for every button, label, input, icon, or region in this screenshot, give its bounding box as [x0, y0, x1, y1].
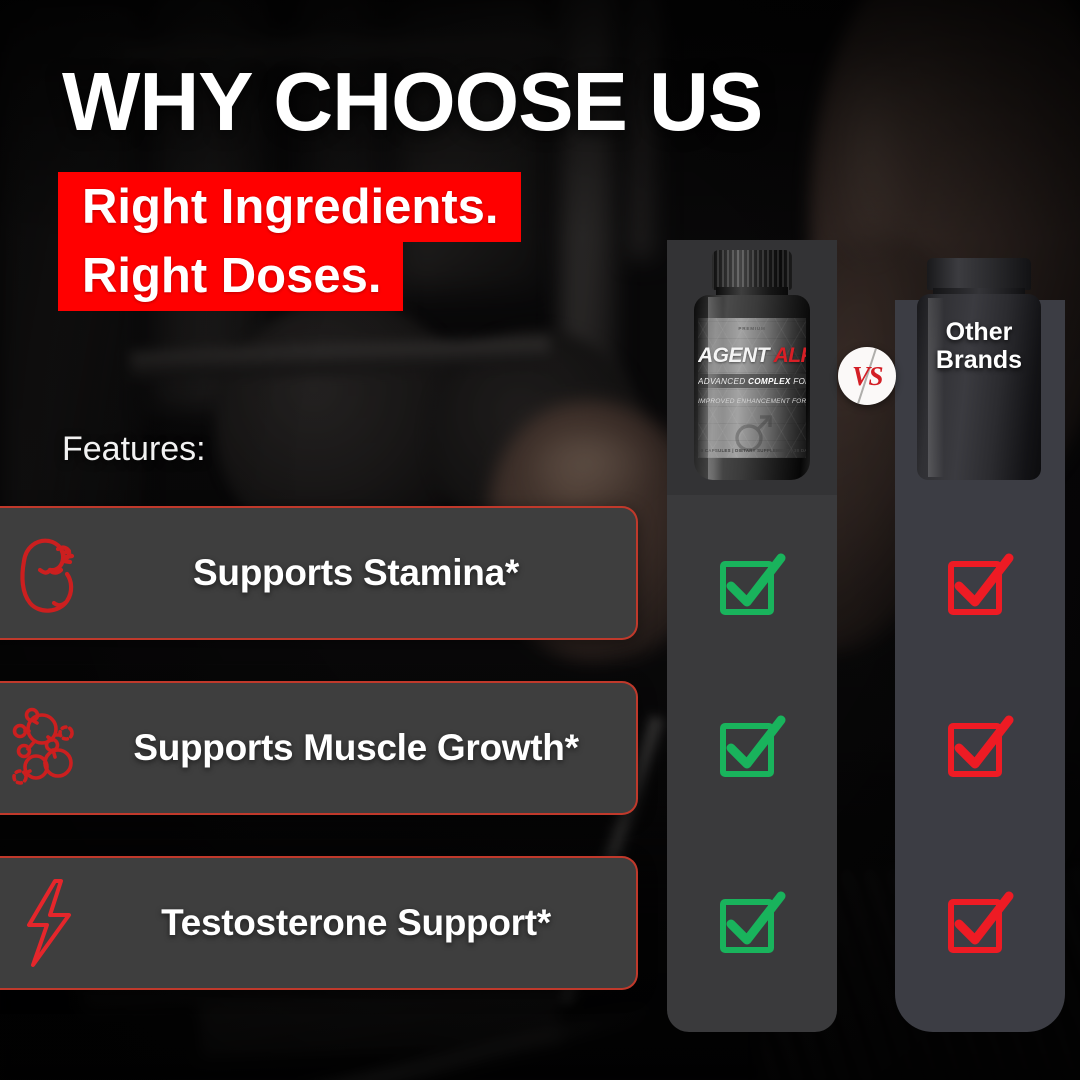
molecule-icon	[0, 705, 102, 791]
other-brands-label: Other Brands	[915, 318, 1043, 374]
flexed-bicep-icon	[0, 529, 102, 617]
feature-label: Supports Muscle Growth*	[102, 727, 636, 769]
feature-row-stamina[interactable]: Supports Stamina*	[0, 506, 638, 640]
check-theirs-testosterone	[943, 888, 1017, 962]
vs-badge-text: VS	[838, 347, 896, 405]
feature-label: Testosterone Support*	[102, 902, 636, 944]
vs-badge: VS	[838, 347, 896, 405]
bottle-gloss-highlight	[708, 297, 723, 480]
check-theirs-muscle-growth	[943, 712, 1017, 786]
check-ours-stamina	[715, 550, 789, 624]
tagline-line-1: Right Ingredients.	[58, 172, 521, 242]
tagline-block: Right Ingredients. Right Doses.	[58, 172, 521, 311]
feature-row-muscle-growth[interactable]: Supports Muscle Growth*	[0, 681, 638, 815]
product-bottle-agent-alpha[interactable]: PREMIUM AGENT ALPHA ADVANCED COMPLEX FOR…	[683, 250, 821, 480]
bottle-body: PREMIUM AGENT ALPHA ADVANCED COMPLEX FOR…	[694, 295, 810, 480]
check-theirs-stamina	[943, 550, 1017, 624]
other-brands-line-1: Other	[915, 318, 1043, 346]
product-bottle-other-brands: Other Brands	[915, 258, 1043, 480]
features-label: Features:	[62, 430, 206, 469]
check-ours-testosterone	[715, 888, 789, 962]
label-brand-word-2: ALPHA	[774, 344, 806, 367]
feature-row-testosterone[interactable]: Testosterone Support*	[0, 856, 638, 990]
tagline-line-2: Right Doses.	[58, 241, 403, 311]
vs-badge-circle: VS	[838, 347, 896, 405]
page-title-text: WHY CHOOSE US	[62, 62, 762, 142]
other-brands-line-2: Brands	[915, 346, 1043, 374]
check-ours-muscle-growth	[715, 712, 789, 786]
page-title: WHY CHOOSE US	[62, 62, 762, 142]
bottle-cap-other	[927, 258, 1031, 290]
feature-label: Supports Stamina*	[102, 552, 636, 594]
lightning-bolt-icon	[0, 877, 102, 969]
bottle-cap	[712, 250, 792, 290]
